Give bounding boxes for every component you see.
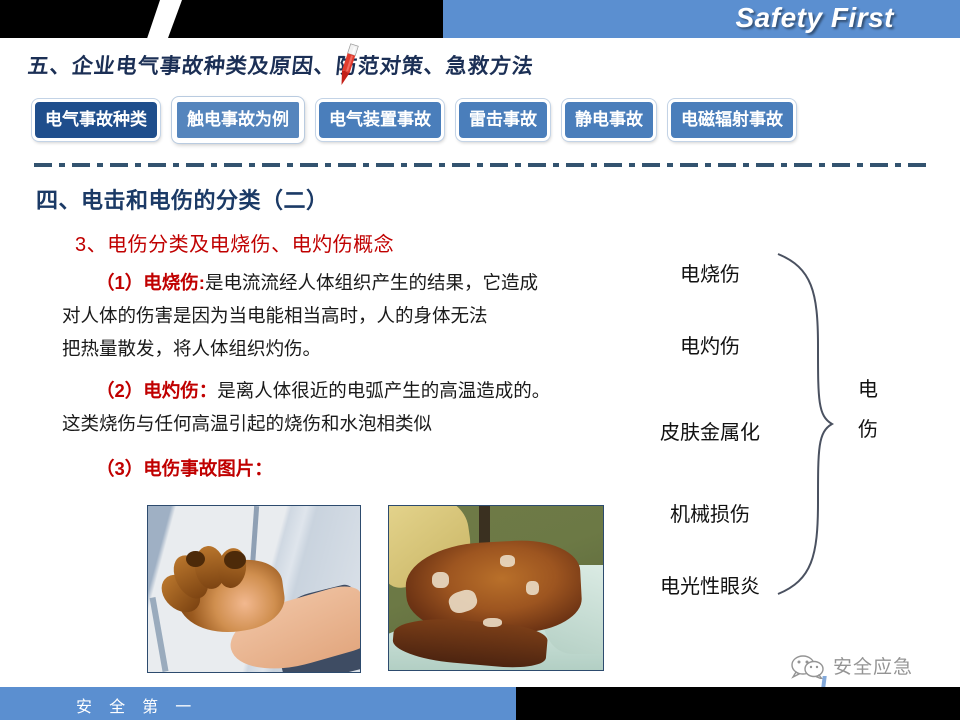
brace-item-skin-metallization: 皮肤金属化: [660, 416, 760, 445]
wechat-icon: [790, 653, 826, 679]
page-title: 四、电击和电伤的分类（二）: [36, 183, 329, 215]
nav-button-lightning-accident[interactable]: 雷击事故: [456, 99, 550, 142]
curly-brace-icon: [770, 250, 840, 600]
paragraph-2-line-1: 是离人体很近的电弧产生的高温造成的。: [217, 380, 550, 401]
nav-button-electromagnetic-radiation-accident[interactable]: 电磁辐射事故: [668, 99, 796, 142]
paragraph-arc-burn: （2）电灼伤：是离人体很近的电弧产生的高温造成的。 这类烧伤与任何高温引起的烧伤…: [62, 374, 622, 440]
nav-button-electrical-device-accident[interactable]: 电气装置事故: [316, 99, 444, 142]
brace-item-electrical-burn: 电烧伤: [680, 258, 740, 287]
brand-title: Safety First: [736, 2, 895, 34]
paragraph-2-line-2: 这类烧伤与任何高温引起的烧伤和水泡相类似: [62, 407, 622, 440]
paragraph-1-line-2: 对人体的伤害是因为当电能相当高时，人的身体无法: [62, 299, 622, 332]
paragraph-2-label: （2）电灼伤：: [96, 380, 217, 401]
footer-slogan: 安 全 第 一: [76, 693, 197, 717]
burned-hand-photo: [147, 505, 361, 673]
burned-body-photo: [388, 505, 604, 671]
paragraph-1-line-1: 是电流流经人体组织产生的结果，它造成: [205, 272, 538, 293]
dash-dot-divider: [34, 163, 926, 167]
watermark-text: 安全应急: [833, 652, 913, 679]
paragraph-accident-photos: （3）电伤事故图片：: [62, 452, 622, 485]
header-black-shape-left: [0, 0, 160, 38]
footer-bar: 安 全 第 一: [0, 687, 960, 720]
paragraph-1-label: （1）电烧伤:: [96, 272, 205, 293]
brace-item-mechanical-damage: 机械损伤: [670, 498, 750, 527]
brace-group-label: 电 伤: [852, 370, 884, 450]
watermark-logo: 安全应急: [790, 652, 913, 679]
paragraph-1-line-3: 把热量散发，将人体组织灼伤。: [62, 332, 622, 365]
paragraph-3-label: （3）电伤事故图片：: [96, 458, 273, 479]
footer-black-band: [516, 687, 960, 720]
nav-button-electrical-accident-types[interactable]: 电气事故种类: [32, 99, 160, 142]
nav-button-electric-shock-example[interactable]: 触电事故为例: [172, 97, 304, 144]
injury-type-brace-group: 电烧伤 电灼伤 皮肤金属化 机械损伤 电光性眼炎 电 伤: [640, 250, 960, 610]
top-header-bar: Safety First: [0, 0, 960, 38]
header-black-shape-right: [168, 0, 448, 38]
paragraph-electrical-burn: （1）电烧伤:是电流流经人体组织产生的结果，它造成 对人体的伤害是因为当电能相当…: [62, 266, 622, 365]
brace-group-label-char-2: 伤: [852, 410, 884, 450]
topic-nav-row[interactable]: 电气事故种类 触电事故为例 电气装置事故 雷击事故 静电事故 电磁辐射事故: [32, 92, 932, 148]
page-subtitle: 3、电伤分类及电烧伤、电灼伤概念: [75, 228, 394, 257]
brace-group-label-char-1: 电: [852, 370, 884, 410]
nav-button-static-electricity-accident[interactable]: 静电事故: [562, 99, 656, 142]
brace-item-arc-burn: 电灼伤: [680, 330, 740, 359]
section-title: 五、企业电气事故种类及原因、防范对策、急救方法: [26, 50, 535, 80]
brace-item-photo-ophthalmia: 电光性眼炎: [660, 570, 760, 599]
